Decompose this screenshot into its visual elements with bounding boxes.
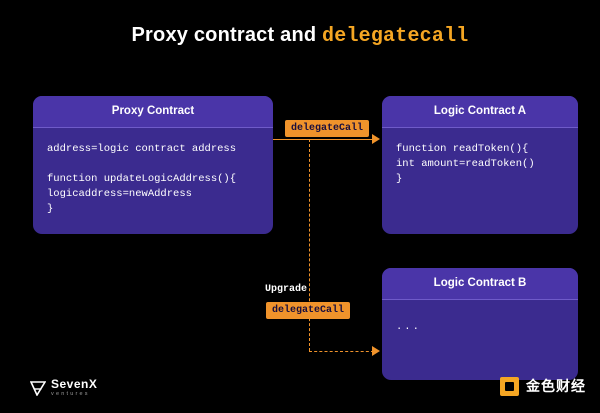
upgrade-label: Upgrade: [265, 284, 307, 295]
jinse-name: 金色财经: [526, 376, 586, 396]
arrow-upgrade-horizontal: [309, 351, 374, 352]
arrow-head-logic-b-icon: [372, 346, 380, 356]
sevenx-name: SevenX: [51, 378, 97, 390]
title-prefix: Proxy contract and: [132, 24, 323, 46]
logic-contract-a-header: Logic Contract A: [382, 96, 578, 128]
arrow-head-logic-a-icon: [372, 134, 380, 144]
jinse-logo-icon: [500, 377, 519, 396]
proxy-contract-header: Proxy Contract: [33, 96, 273, 128]
sevenx-tagline: ventures: [51, 392, 97, 398]
logic-contract-a-box: Logic Contract A function readToken(){ i…: [382, 96, 578, 234]
delegatecall-label-b: delegateCall: [266, 302, 350, 319]
arrow-proxy-to-logic-a: [273, 139, 374, 140]
arrow-upgrade-vertical: [309, 139, 310, 351]
logic-contract-a-code: function readToken(){ int amount=readTok…: [382, 128, 578, 197]
logic-contract-b-header: Logic Contract B: [382, 268, 578, 300]
slide-canvas: Proxy contract and delegatecall Proxy Co…: [0, 0, 600, 413]
proxy-contract-box: Proxy Contract address=logic contract ad…: [33, 96, 273, 234]
sevenx-logo: SevenX ventures: [30, 378, 97, 398]
delegatecall-label-a: delegateCall: [285, 120, 369, 137]
proxy-contract-code: address=logic contract address function …: [33, 128, 273, 227]
page-title: Proxy contract and delegatecall: [0, 24, 600, 48]
logic-contract-b-code: ...: [382, 300, 578, 345]
sevenx-text: SevenX ventures: [51, 378, 97, 398]
sevenx-mark-icon: [30, 380, 46, 396]
logic-contract-b-box: Logic Contract B ...: [382, 268, 578, 380]
title-delegatecall: delegatecall: [322, 25, 468, 48]
jinse-watermark: 金色财经: [500, 376, 586, 396]
